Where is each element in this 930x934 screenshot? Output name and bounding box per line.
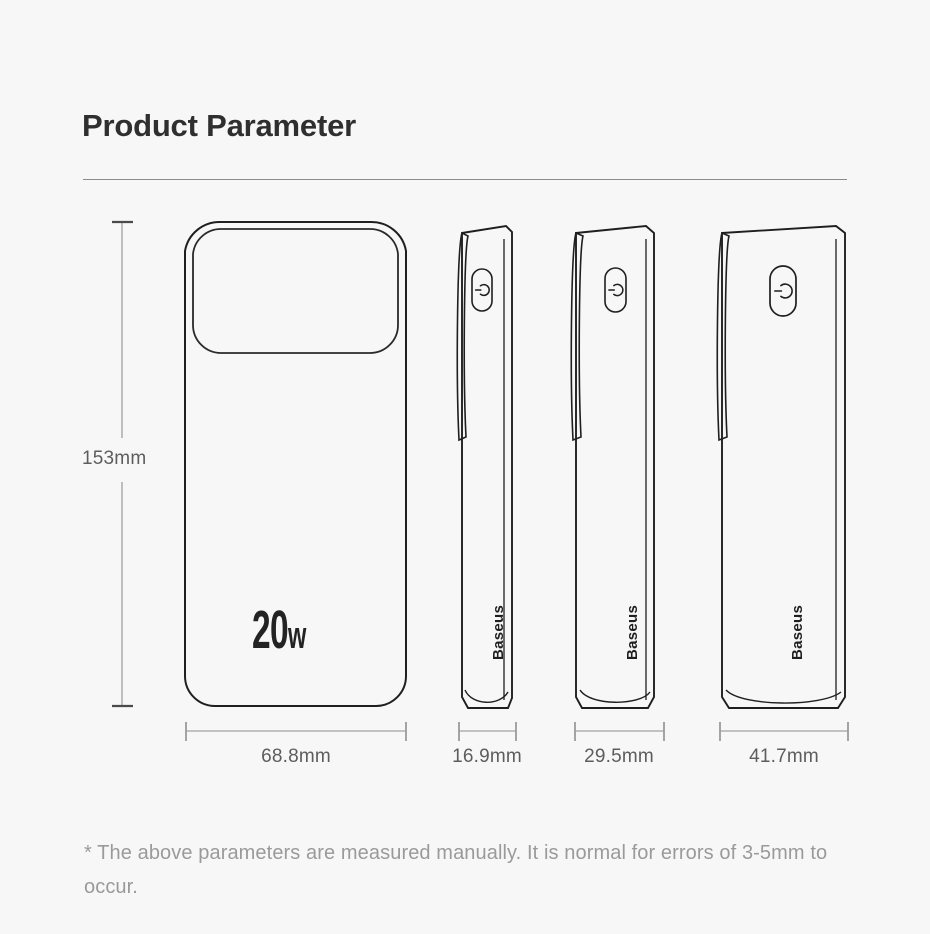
front-width-dimension-label: 68.8mm: [196, 746, 396, 768]
side-2-width-dimension-label: 29.5mm: [569, 746, 669, 768]
side-1-width-dimension-label: 16.9mm: [437, 746, 537, 768]
side-view-1-power-button[interactable]: [472, 269, 492, 311]
brand-label-side-3: Baseus: [789, 605, 806, 660]
side-3-width-dimension-label: 41.7mm: [734, 746, 834, 768]
side-view-3-outline: [717, 226, 845, 708]
power-icon: [775, 284, 792, 298]
side-view-1-width-dimension-line: [459, 722, 516, 741]
side-view-2-power-button[interactable]: [605, 268, 626, 312]
wattage-badge: 20W: [252, 603, 306, 657]
height-dimension-label: 153mm: [82, 448, 146, 470]
measurement-disclaimer: * The above parameters are measured manu…: [84, 836, 844, 905]
wattage-unit: W: [288, 615, 306, 657]
product-parameter-page: Product Parameter: [0, 0, 930, 934]
power-icon: [476, 285, 490, 296]
side-view-2-outline: [571, 226, 654, 708]
brand-label-side-2: Baseus: [624, 605, 641, 660]
wattage-value: 20: [252, 600, 288, 660]
front-width-dimension-line: [186, 722, 406, 741]
side-view-3-width-dimension-line: [720, 722, 848, 741]
side-view-3-power-button[interactable]: [770, 266, 796, 316]
brand-label-side-1: Baseus: [490, 605, 507, 660]
power-icon: [609, 284, 623, 295]
side-view-2-width-dimension-line: [575, 722, 664, 741]
